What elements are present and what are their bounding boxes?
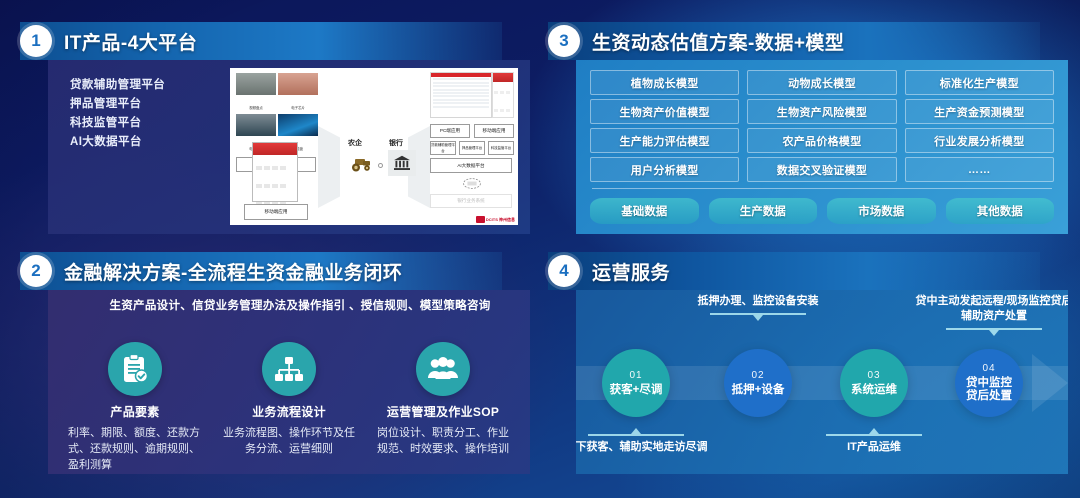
thumb-smartlock-image — [278, 114, 318, 136]
node-name: 获客+尽调 — [610, 384, 663, 397]
process-node-04[interactable]: 04 贷中监控贷后处置 — [955, 349, 1023, 417]
collateral-platform-box: 押品管理平台 — [459, 141, 485, 155]
caption-rule — [826, 434, 922, 436]
clipboard-check-icon-circle — [108, 342, 162, 396]
q1-title: IT产品-4大平台 — [64, 22, 197, 60]
data-source-pills: 基础数据 生产数据 市场数据 其他数据 — [590, 198, 1054, 224]
q4-number-badge: 4 — [548, 255, 580, 287]
q3-title: 生资动态估值方案-数据+模型 — [592, 22, 844, 60]
people-group-icon-circle — [416, 342, 470, 396]
caption-tick-down-icon — [989, 330, 999, 336]
phone-grid-cell — [264, 184, 270, 188]
data-pill[interactable]: 基础数据 — [590, 198, 699, 224]
node-number: 01 — [629, 370, 642, 381]
quadrant-operation-service: 4 运营服务 01 获客+尽调 线下获客、辅助实地走访尽调 02 — [548, 252, 1068, 474]
actor-label-farm: 农企 — [348, 138, 362, 148]
vendor-logo: DCITS 神州信息 — [476, 216, 515, 223]
model-cell[interactable]: 行业发展分析模型 — [905, 128, 1054, 153]
node-name: 系统运维 — [851, 384, 897, 397]
platform-item: AI大数据平台 — [70, 133, 220, 152]
thumb-label: 电子芯片 — [278, 106, 318, 111]
model-cell[interactable]: 标准化生产模型 — [905, 70, 1054, 95]
slide-canvas: 1 IT产品-4大平台 贷款辅助管理平台 押品管理平台 科技监管平台 AI大数据… — [0, 0, 1080, 498]
platform-item: 科技监管平台 — [70, 114, 220, 133]
clipboard-check-icon — [121, 354, 149, 384]
logo-text: DCITS 神州信息 — [486, 217, 515, 223]
ai-bigdata-platform-box: AI大数据平台 — [430, 158, 512, 173]
process-node-02[interactable]: 02 抵押+设备 — [724, 349, 792, 417]
pc-console-mockup — [430, 72, 492, 118]
column-title: 产品要素 — [110, 403, 159, 420]
model-cell[interactable]: 动物成长模型 — [747, 70, 896, 95]
phone-grid-cell — [500, 91, 504, 94]
phone-grid-cell — [494, 109, 498, 112]
model-cell[interactable]: 生产资金预测模型 — [905, 99, 1054, 124]
q3-number-badge: 3 — [548, 25, 580, 57]
q4-title: 运营服务 — [592, 252, 670, 290]
phone-grid-cell — [506, 109, 510, 112]
connector-dot — [378, 163, 383, 168]
process-nodes: 01 获客+尽调 线下获客、辅助实地走访尽调 02 抵押+设备 抵押办理、监控设… — [576, 290, 1068, 474]
process-caption-03: IT产品运维 — [799, 428, 949, 455]
console-row — [433, 89, 489, 91]
phone-grid-cell — [280, 184, 286, 188]
phone-grid-cell — [272, 184, 278, 188]
thumb-efence-image — [236, 114, 276, 136]
mobile-app-box: 移动端应用 — [244, 204, 308, 220]
data-pill[interactable]: 市场数据 — [827, 198, 936, 224]
model-cell[interactable]: 植物成长模型 — [590, 70, 739, 95]
process-caption-01: 线下获客、辅助实地走访尽调 — [576, 428, 711, 455]
org-chart-icon-circle — [262, 342, 316, 396]
node-name: 抵押+设备 — [732, 384, 785, 397]
quadrant-financial-solution: 2 金融解决方案-全流程生资金融业务闭环 生资产品设计、信贷业务管理办法及操作指… — [20, 252, 530, 474]
model-cell[interactable]: 生物资产价值模型 — [590, 99, 739, 124]
bank-icon — [393, 155, 411, 171]
pc-app-box: PC端应用 — [430, 124, 470, 138]
phone-header-bar — [253, 143, 297, 155]
console-row — [433, 102, 489, 104]
q2-number-badge: 2 — [20, 255, 52, 287]
tractor-icon — [348, 156, 374, 172]
mobile-app-box: 移动端应用 — [474, 124, 514, 138]
column-text: 岗位设计、职责分工、作业规范、时效要求、操作培训 — [376, 425, 510, 457]
model-cell[interactable]: 用户分析模型 — [590, 157, 739, 182]
thumb-echip-image — [278, 73, 318, 95]
caption-text: 抵押办理、监控设备安装 — [698, 295, 819, 307]
console-row — [433, 99, 489, 101]
node-name: 贷中监控贷后处置 — [966, 377, 1012, 403]
q2-column-product-elements: 产品要素 利率、期限、额度、还款方式、还款规则、逾期规则、盈利测算 — [58, 342, 212, 473]
q2-title: 金融解决方案-全流程生资金融业务闭环 — [64, 252, 402, 290]
platform-item: 押品管理平台 — [70, 95, 220, 114]
thumb-label: 视频盘点 — [236, 106, 276, 111]
it-architecture-screenshot: 视频盘点电子芯片 电子围栏智能锁 押品科技监管系统 移动端应用 农 — [230, 68, 518, 225]
node-number: 02 — [751, 370, 764, 381]
phone-grid-cell — [272, 166, 278, 170]
process-caption-02: 抵押办理、监控设备安装 — [683, 294, 833, 321]
model-grid: 植物成长模型 动物成长模型 标准化生产模型 生物资产价值模型 生物资产风险模型 … — [590, 70, 1054, 182]
bank-mobile-mockup — [492, 72, 514, 118]
mobile-app-mockup — [252, 142, 298, 202]
section-divider — [592, 188, 1052, 189]
console-titlebar — [431, 73, 491, 77]
tech-supervision-platform-box: 科技监管平台 — [488, 141, 514, 155]
bank-icon-box — [388, 150, 416, 176]
api-exchange-icon — [459, 177, 485, 190]
caption-text: IT产品运维 — [847, 441, 901, 453]
org-chart-icon — [274, 356, 304, 382]
phone-grid-cell — [256, 166, 262, 170]
caption-text: 线下获客、辅助实地走访尽调 — [576, 441, 708, 453]
phone-grid-cell — [506, 91, 510, 94]
data-pill[interactable]: 其他数据 — [946, 198, 1055, 224]
quadrant-valuation-solution: 3 生资动态估值方案-数据+模型 植物成长模型 动物成长模型 标准化生产模型 生… — [548, 22, 1068, 234]
model-cell[interactable]: 生物资产风险模型 — [747, 99, 896, 124]
console-row — [433, 85, 489, 87]
q2-caption: 生资产品设计、信贷业务管理办法及操作指引 、授信规则、模型策略咨询 — [96, 298, 504, 315]
column-text: 业务流程图、操作环节及任务分流、运营细则 — [222, 425, 356, 457]
console-row — [433, 92, 489, 94]
q2-column-process-design: 业务流程设计 业务流程图、操作环节及任务分流、运营细则 — [212, 342, 366, 473]
q2-body-panel: 生资产品设计、信贷业务管理办法及操作指引 、授信规则、模型策略咨询 — [48, 290, 530, 474]
column-title: 业务流程设计 — [252, 403, 326, 420]
console-row — [433, 82, 489, 84]
bank-core-system-box: 银行业务系统 — [430, 194, 512, 208]
phone-grid-cell — [494, 91, 498, 94]
phone-header-bar — [493, 73, 513, 82]
node-number: 03 — [867, 370, 880, 381]
data-pill[interactable]: 生产数据 — [709, 198, 818, 224]
people-group-icon — [427, 357, 459, 381]
logo-mark — [476, 216, 485, 223]
process-caption-04: 贷中主动发起远程/现场监控贷后辅助资产处置 — [914, 294, 1068, 336]
thumb-video-count-image — [236, 73, 276, 95]
process-node-01[interactable]: 01 获客+尽调 — [602, 349, 670, 417]
phone-grid-cell — [500, 109, 504, 112]
quadrant-it-product: 1 IT产品-4大平台 贷款辅助管理平台 押品管理平台 科技监管平台 AI大数据… — [20, 22, 530, 234]
model-cell[interactable]: 农产品价格模型 — [747, 128, 896, 153]
phone-grid-cell — [264, 166, 270, 170]
console-row — [433, 95, 489, 97]
phone-grid-cell — [256, 184, 262, 188]
caption-text: 贷中主动发起远程/现场监控贷后辅助资产处置 — [915, 295, 1068, 322]
platform-item: 贷款辅助管理平台 — [70, 76, 220, 95]
process-node-03[interactable]: 03 系统运维 — [840, 349, 908, 417]
caption-tick-down-icon — [753, 315, 763, 321]
node-number: 04 — [982, 363, 995, 374]
console-row — [433, 106, 489, 108]
phone-grid-cell — [280, 166, 286, 170]
bank-side-stack: PC端应用 移动端应用 贷款辅助管理平台 押品管理平台 科技监管平台 AI大数据… — [430, 72, 514, 208]
q3-body-panel: 植物成长模型 动物成长模型 标准化生产模型 生物资产价值模型 生物资产风险模型 … — [576, 60, 1068, 234]
left-funnel-shape — [318, 126, 340, 208]
console-row — [433, 78, 489, 80]
column-text: 利率、期限、额度、还款方式、还款规则、逾期规则、盈利测算 — [68, 425, 202, 473]
loan-platform-box: 贷款辅助管理平台 — [430, 141, 456, 155]
q1-body-panel: 贷款辅助管理平台 押品管理平台 科技监管平台 AI大数据平台 视频盘点电子芯片 … — [48, 60, 530, 234]
q2-column-operations-sop: 运营管理及作业SOP 岗位设计、职责分工、作业规范、时效要求、操作培训 — [366, 342, 520, 473]
caption-rule — [588, 434, 684, 436]
actor-label-bank: 银行 — [389, 138, 403, 148]
model-cell[interactable]: 生产能力评估模型 — [590, 128, 739, 153]
q2-columns: 产品要素 利率、期限、额度、还款方式、还款规则、逾期规则、盈利测算 — [58, 342, 520, 473]
q1-number-badge: 1 — [20, 25, 52, 57]
q4-body-panel: 01 获客+尽调 线下获客、辅助实地走访尽调 02 抵押+设备 抵押办理、监控设… — [576, 290, 1068, 474]
model-cell[interactable]: …… — [905, 157, 1054, 182]
q1-platform-list: 贷款辅助管理平台 押品管理平台 科技监管平台 AI大数据平台 — [70, 76, 220, 152]
model-cell[interactable]: 数据交叉验证模型 — [747, 157, 896, 182]
column-title: 运营管理及作业SOP — [387, 403, 499, 420]
